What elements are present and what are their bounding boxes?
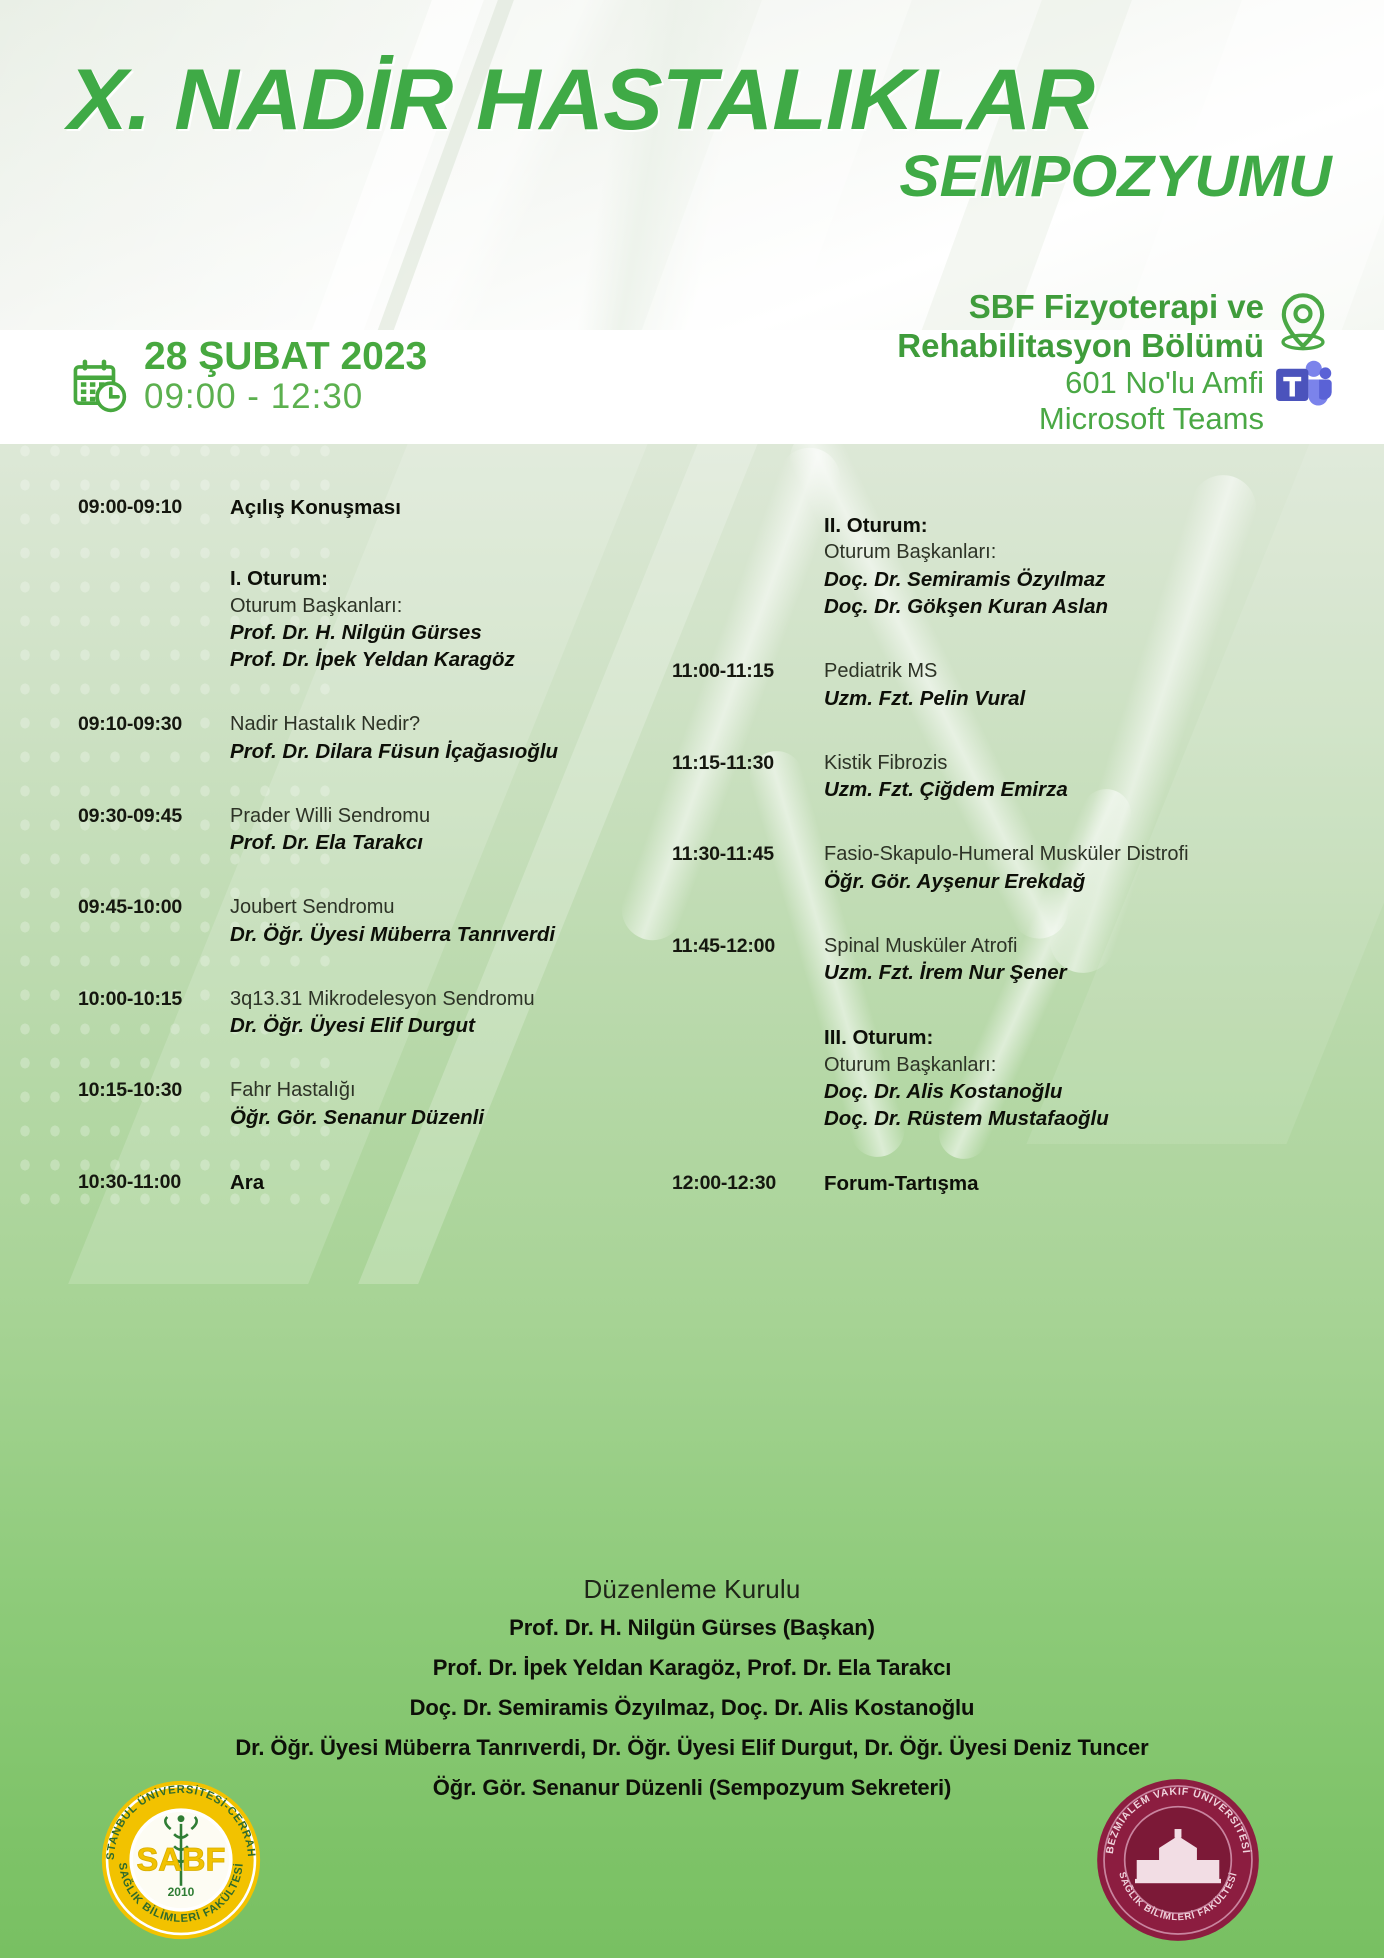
committee-title: Düzenleme Kurulu: [0, 1574, 1384, 1605]
session-chair: Doç. Dr. Gökşen Kuran Aslan: [824, 593, 1332, 620]
row-topic: 3q13.31 Mikrodelesyon Sendromu: [230, 986, 678, 1012]
committee-line: Doç. Dr. Semiramis Özyılmaz, Doç. Dr. Al…: [0, 1697, 1384, 1719]
row-time: 09:30-09:45: [78, 803, 230, 856]
date-time-group: 28 ŞUBAT 2023 09:00 - 12:30: [70, 336, 427, 417]
row-speaker: Prof. Dr. Ela Tarakcı: [230, 829, 678, 856]
spacer: [672, 803, 1332, 841]
session-chair: Doç. Dr. Semiramis Özyılmaz: [824, 566, 1332, 593]
location-pin-icon: [1276, 292, 1330, 352]
schedule-row: 11:45-12:00 Spinal Musküler Atrofi Uzm. …: [672, 933, 1332, 986]
row-body: Nadir Hastalık Nedir? Prof. Dr. Dilara F…: [230, 711, 678, 764]
session-block: I. Oturum: Oturum Başkanları: Prof. Dr. …: [78, 565, 678, 673]
spacer: [672, 712, 1332, 750]
row-body: Ara: [230, 1169, 678, 1196]
row-body: Fahr Hastalığı Öğr. Gör. Senanur Düzenli: [230, 1077, 678, 1130]
spacer: [78, 856, 678, 894]
row-speaker: Prof. Dr. Dilara Füsun İçağasıoğlu: [230, 738, 678, 765]
row-body: Açılış Konuşması: [230, 494, 678, 521]
row-time: 11:45-12:00: [672, 933, 824, 986]
poster-root: X. NADİR HASTALIKLAR SEMPOZYUMU: [0, 0, 1384, 1958]
spacer: [78, 1131, 678, 1169]
row-body: Joubert Sendromu Dr. Öğr. Üyesi Müberra …: [230, 894, 678, 947]
spacer: [78, 765, 678, 803]
venue-line-4: Microsoft Teams: [897, 401, 1264, 437]
schedule-column-right: II. Oturum: Oturum Başkanları: Doç. Dr. …: [672, 512, 1332, 1198]
sabf-logo: T.C. İSTANBUL ÜNİVERSİTESİ-CERRAHPAŞA SA…: [95, 1774, 267, 1946]
spacer: [672, 620, 1332, 658]
row-speaker: Uzm. Fzt. İrem Nur Şener: [824, 959, 1332, 986]
schedule-row: 11:15-11:30 Kistik Fibrozis Uzm. Fzt. Çi…: [672, 750, 1332, 803]
session-chair: Prof. Dr. H. Nilgün Gürses: [230, 619, 678, 646]
page-title: X. NADİR HASTALIKLAR: [68, 57, 1378, 143]
row-speaker: Dr. Öğr. Üyesi Elif Durgut: [230, 1012, 678, 1039]
row-body: Forum-Tartışma: [824, 1170, 1332, 1197]
row-speaker: Öğr. Gör. Ayşenur Erekdağ: [824, 868, 1332, 895]
svg-text:SABF: SABF: [137, 1840, 226, 1877]
event-date: 28 ŞUBAT 2023: [144, 336, 427, 378]
spacer: [672, 986, 1332, 1024]
row-speaker: Uzm. Fzt. Pelin Vural: [824, 685, 1332, 712]
schedule-row: 09:45-10:00 Joubert Sendromu Dr. Öğr. Üy…: [78, 894, 678, 947]
schedule-row: 10:15-10:30 Fahr Hastalığı Öğr. Gör. Sen…: [78, 1077, 678, 1130]
venue-line-1: SBF Fizyoterapi ve: [897, 288, 1264, 327]
schedule-row: 11:00-11:15 Pediatrik MS Uzm. Fzt. Pelin…: [672, 658, 1332, 711]
row-body: Kistik Fibrozis Uzm. Fzt. Çiğdem Emirza: [824, 750, 1332, 803]
poster-header: X. NADİR HASTALIKLAR SEMPOZYUMU: [0, 0, 1384, 330]
calendar-clock-icon: [70, 356, 128, 414]
row-time: 10:30-11:00: [78, 1169, 230, 1196]
session-title: III. Oturum:: [824, 1024, 1332, 1051]
event-time: 09:00 - 12:30: [144, 378, 427, 417]
date-time-text: 28 ŞUBAT 2023 09:00 - 12:30: [144, 336, 427, 417]
row-body: Fasio-Skapulo-Humeral Musküler Distrofi …: [824, 841, 1332, 894]
session-title: II. Oturum:: [824, 512, 1332, 539]
session-block: III. Oturum: Oturum Başkanları: Doç. Dr.…: [672, 1024, 1332, 1132]
committee-line: Prof. Dr. H. Nilgün Gürses (Başkan): [0, 1617, 1384, 1639]
session-block: II. Oturum: Oturum Başkanları: Doç. Dr. …: [672, 512, 1332, 620]
schedule-row: 09:00-09:10 Açılış Konuşması: [78, 494, 678, 521]
svg-text:2010: 2010: [168, 1885, 195, 1899]
row-speaker: Uzm. Fzt. Çiğdem Emirza: [824, 776, 1332, 803]
venue-text: SBF Fizyoterapi ve Rehabilitasyon Bölümü…: [897, 288, 1264, 438]
row-topic: Forum-Tartışma: [824, 1170, 1332, 1197]
venue-line-3: 601 No'lu Amfi: [897, 365, 1264, 401]
row-body: Prader Willi Sendromu Prof. Dr. Ela Tara…: [230, 803, 678, 856]
row-time: 09:10-09:30: [78, 711, 230, 764]
row-body: II. Oturum: Oturum Başkanları: Doç. Dr. …: [824, 512, 1332, 620]
row-time: 09:45-10:00: [78, 894, 230, 947]
spacer: [78, 521, 678, 565]
title-wrap: X. NADİR HASTALIKLAR SEMPOZYUMU: [0, 0, 1384, 330]
row-topic: Kistik Fibrozis: [824, 750, 1332, 776]
session-chair: Doç. Dr. Rüstem Mustafaoğlu: [824, 1105, 1332, 1132]
committee-line: Dr. Öğr. Üyesi Müberra Tanrıverdi, Dr. Ö…: [0, 1737, 1384, 1759]
row-topic: Spinal Musküler Atrofi: [824, 933, 1332, 959]
row-speaker: Öğr. Gör. Senanur Düzenli: [230, 1104, 678, 1131]
row-body: I. Oturum: Oturum Başkanları: Prof. Dr. …: [230, 565, 678, 673]
row-topic: Ara: [230, 1169, 678, 1196]
row-body: III. Oturum: Oturum Başkanları: Doç. Dr.…: [824, 1024, 1332, 1132]
row-topic: Pediatrik MS: [824, 658, 1332, 684]
schedule-row: 09:30-09:45 Prader Willi Sendromu Prof. …: [78, 803, 678, 856]
row-time: [78, 565, 230, 673]
row-body: Pediatrik MS Uzm. Fzt. Pelin Vural: [824, 658, 1332, 711]
schedule-row: 11:30-11:45 Fasio-Skapulo-Humeral Muskül…: [672, 841, 1332, 894]
page-subtitle: SEMPOZYUMU: [900, 148, 1332, 206]
info-band: 28 ŞUBAT 2023 09:00 - 12:30 SBF Fizyoter…: [0, 330, 1384, 444]
row-topic: Fasio-Skapulo-Humeral Musküler Distrofi: [824, 841, 1332, 867]
venue-line-2: Rehabilitasyon Bölümü: [897, 327, 1264, 366]
spacer: [672, 1132, 1332, 1170]
row-body: 3q13.31 Mikrodelesyon Sendromu Dr. Öğr. …: [230, 986, 678, 1039]
row-time: [672, 512, 824, 620]
row-time: 10:00-10:15: [78, 986, 230, 1039]
session-title: I. Oturum:: [230, 565, 678, 592]
session-subtitle: Oturum Başkanları:: [230, 593, 678, 620]
spacer: [78, 673, 678, 711]
row-time: 11:15-11:30: [672, 750, 824, 803]
session-subtitle: Oturum Başkanları:: [824, 1052, 1332, 1079]
row-topic: Prader Willi Sendromu: [230, 803, 678, 829]
row-topic: Joubert Sendromu: [230, 894, 678, 920]
row-time: 11:00-11:15: [672, 658, 824, 711]
row-time: 11:30-11:45: [672, 841, 824, 894]
schedule-row: 09:10-09:30 Nadir Hastalık Nedir? Prof. …: [78, 711, 678, 764]
session-chair: Prof. Dr. İpek Yeldan Karagöz: [230, 646, 678, 673]
row-body: Spinal Musküler Atrofi Uzm. Fzt. İrem Nu…: [824, 933, 1332, 986]
venue-icons: [1274, 288, 1332, 410]
spacer: [78, 1039, 678, 1077]
row-topic: Nadir Hastalık Nedir?: [230, 711, 678, 737]
schedule-row: 10:00-10:15 3q13.31 Mikrodelesyon Sendro…: [78, 986, 678, 1039]
committee-line: Prof. Dr. İpek Yeldan Karagöz, Prof. Dr.…: [0, 1657, 1384, 1679]
row-time: 10:15-10:30: [78, 1077, 230, 1130]
spacer: [672, 895, 1332, 933]
microsoft-teams-icon: [1274, 358, 1332, 410]
session-chair: Doç. Dr. Alis Kostanoğlu: [824, 1078, 1332, 1105]
schedule-row: 10:30-11:00 Ara: [78, 1169, 678, 1196]
spacer: [78, 948, 678, 986]
schedule-column-left: 09:00-09:10 Açılış Konuşması I. Oturum: …: [78, 494, 678, 1196]
row-time: [672, 1024, 824, 1132]
venue-group: SBF Fizyoterapi ve Rehabilitasyon Bölümü…: [897, 288, 1332, 438]
bezmialem-logo: BEZMİALEM VAKIF ÜNİVERSİTESİ SAĞLIK BİLİ…: [1092, 1774, 1264, 1946]
row-time: 12:00-12:30: [672, 1170, 824, 1197]
row-topic: Açılış Konuşması: [230, 494, 678, 521]
row-time: 09:00-09:10: [78, 494, 230, 521]
row-topic: Fahr Hastalığı: [230, 1077, 678, 1103]
schedule-row: 12:00-12:30 Forum-Tartışma: [672, 1170, 1332, 1197]
poster-body: 09:00-09:10 Açılış Konuşması I. Oturum: …: [0, 444, 1384, 1958]
session-subtitle: Oturum Başkanları:: [824, 539, 1332, 566]
row-speaker: Dr. Öğr. Üyesi Müberra Tanrıverdi: [230, 921, 678, 948]
